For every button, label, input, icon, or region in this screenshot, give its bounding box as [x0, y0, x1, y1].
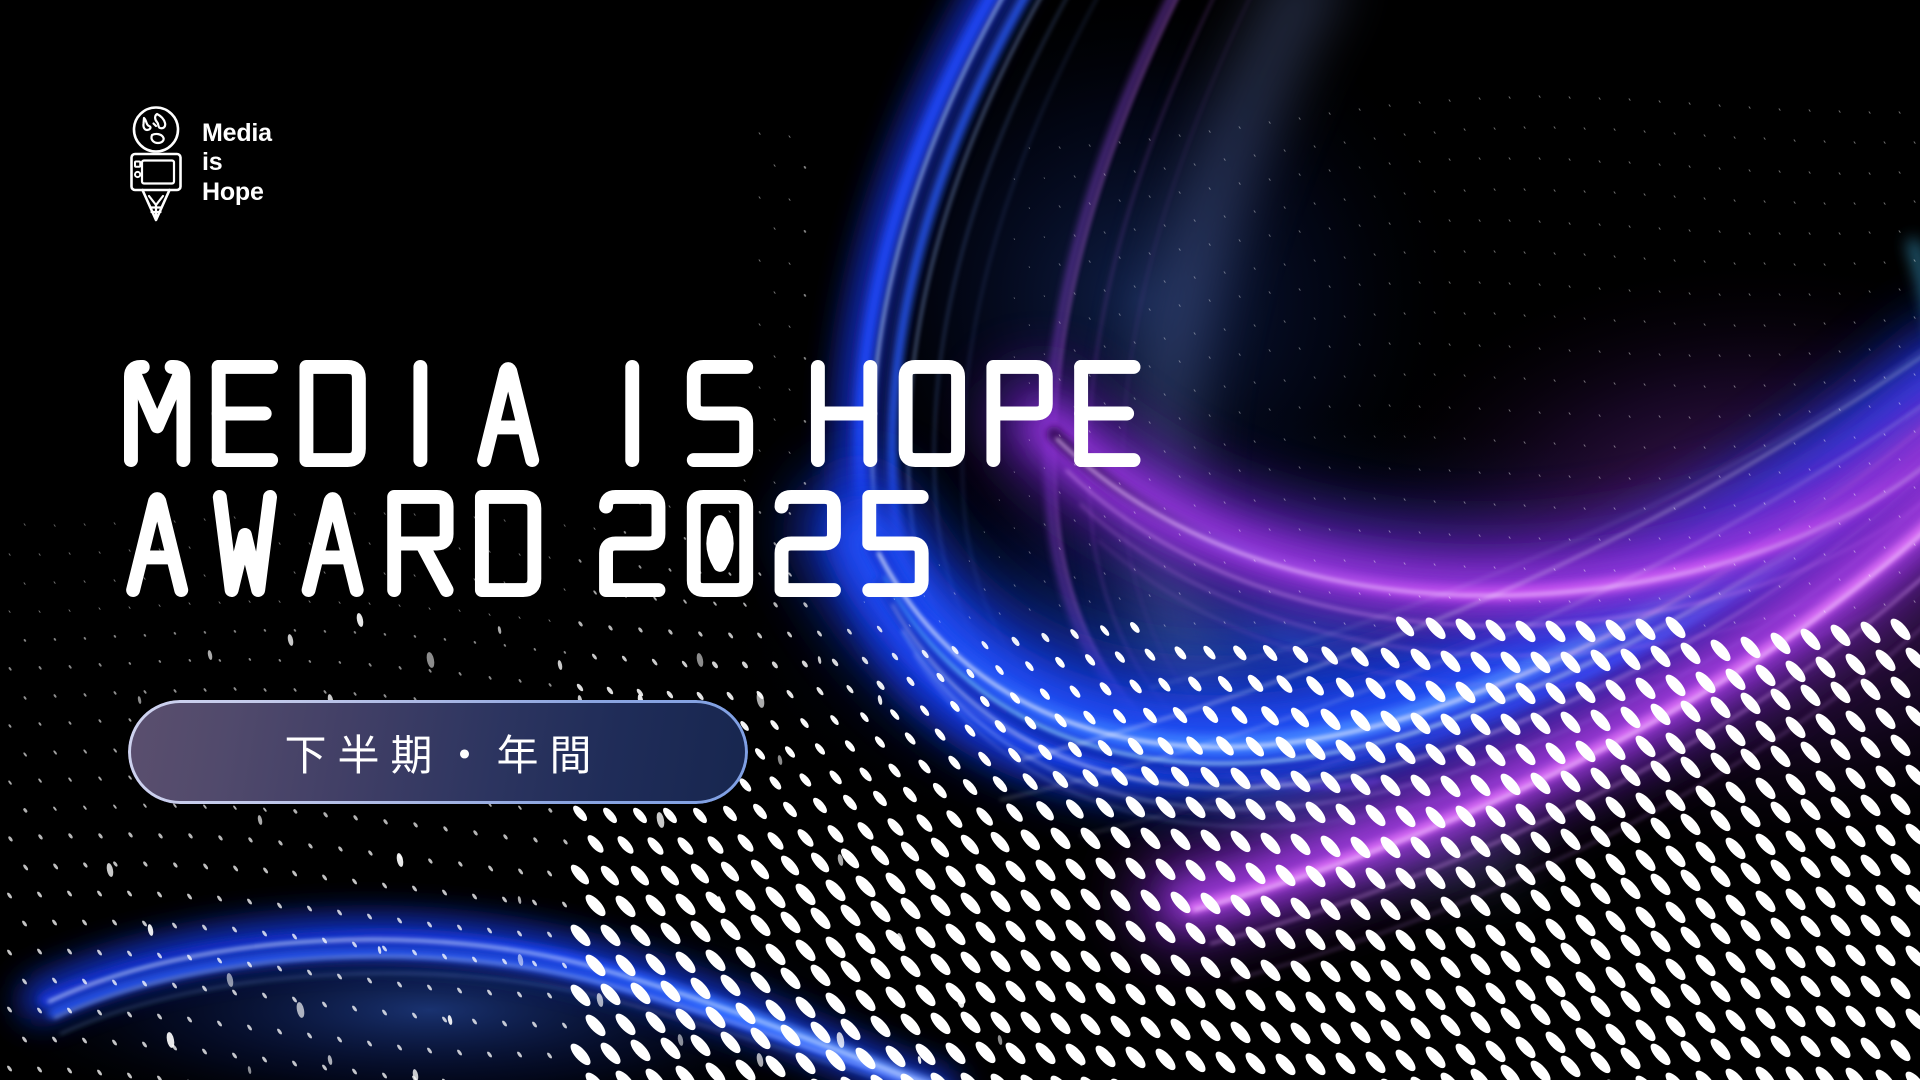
- halftone-dot: [1362, 927, 1388, 954]
- halftone-dot: [1737, 917, 1763, 944]
- halftone-dot: [1182, 857, 1208, 884]
- halftone-dot: [1374, 313, 1377, 316]
- halftone-dot: [82, 1037, 89, 1044]
- halftone-dot: [1527, 887, 1553, 914]
- halftone-dot: [1632, 675, 1658, 702]
- halftone-dot: [1782, 828, 1808, 855]
- halftone-dot: [1377, 708, 1403, 735]
- halftone-dot: [1914, 599, 1917, 602]
- halftone-dot: [1749, 473, 1752, 476]
- halftone-dot: [1914, 543, 1917, 546]
- halftone-dot: [382, 1008, 389, 1015]
- halftone-dot: [1902, 761, 1920, 788]
- halftone-dot: [502, 896, 509, 903]
- halftone-dot: [1152, 982, 1178, 1009]
- halftone-dot: [1632, 1016, 1658, 1043]
- halftone-dot: [947, 754, 964, 772]
- halftone-dot: [1584, 317, 1587, 320]
- halftone-dot: [642, 1009, 668, 1036]
- halftone-dot: [1317, 769, 1343, 796]
- halftone-dot: [837, 902, 863, 929]
- halftone-dot: [813, 742, 827, 757]
- halftone-dot: [1542, 858, 1568, 885]
- halftone-speckle: [696, 652, 705, 667]
- halftone-dot: [897, 895, 923, 922]
- halftone-dot: [1509, 536, 1512, 539]
- halftone-dot: [1122, 981, 1148, 1008]
- halftone-dot: [1209, 243, 1211, 246]
- halftone-dot: [1317, 1020, 1343, 1047]
- halftone-dot: [884, 815, 905, 837]
- halftone-dot: [398, 666, 401, 670]
- halftone-dot: [307, 843, 313, 850]
- halftone-dot: [1509, 96, 1512, 99]
- halftone-dot: [1752, 1064, 1778, 1080]
- halftone-dot: [797, 772, 813, 789]
- halftone-dot: [1797, 1033, 1823, 1060]
- halftone-dot: [1794, 263, 1797, 266]
- halftone-dot: [1902, 821, 1920, 848]
- halftone-dot: [1437, 1012, 1463, 1039]
- halftone-dot: [128, 775, 133, 780]
- halftone-dot: [1722, 949, 1748, 976]
- halftone-dot: [702, 1003, 728, 1030]
- halftone-dot: [1527, 1057, 1553, 1080]
- halftone-dot: [1842, 942, 1868, 969]
- halftone-dot: [927, 1010, 953, 1037]
- halftone-dot: [803, 166, 806, 169]
- halftone-dot: [1647, 928, 1673, 955]
- halftone-dot: [1869, 111, 1872, 114]
- halftone-dot: [1602, 851, 1628, 878]
- halftone-dot: [1329, 591, 1332, 594]
- halftone-dot: [1036, 743, 1054, 762]
- halftone-dot: [1362, 1049, 1388, 1076]
- halftone-dot: [502, 1020, 509, 1027]
- halftone-dot: [8, 780, 13, 785]
- halftone-dot: [1119, 141, 1121, 144]
- halftone-dot: [1767, 915, 1793, 942]
- halftone-dot: [1344, 559, 1347, 562]
- halftone-dot: [1659, 537, 1662, 540]
- media-is-hope-logo-icon: [124, 104, 188, 222]
- halftone-dot: [1419, 468, 1422, 471]
- halftone-dot: [1212, 795, 1238, 822]
- halftone-dot: [307, 1032, 314, 1039]
- halftone-dot: [23, 696, 27, 700]
- halftone-dot: [1632, 733, 1658, 760]
- halftone-dot: [38, 778, 43, 783]
- halftone-dot: [1107, 949, 1133, 976]
- halftone-dot: [990, 774, 1009, 795]
- halftone-dot: [1857, 619, 1883, 646]
- halftone-dot: [1689, 476, 1692, 479]
- halftone-dot: [1224, 271, 1226, 274]
- halftone-dot: [1017, 887, 1043, 914]
- halftone-dot: [1689, 536, 1692, 539]
- halftone-dot: [1422, 678, 1448, 705]
- halftone-dot: [1539, 474, 1542, 477]
- halftone-dot: [1524, 313, 1527, 316]
- halftone-dot: [1659, 100, 1662, 103]
- halftone-dot: [1734, 620, 1737, 623]
- halftone-dot: [142, 980, 149, 987]
- halftone-dot: [1186, 674, 1204, 693]
- halftone-dot: [1359, 108, 1362, 111]
- halftone-dot: [1782, 658, 1808, 685]
- halftone-dot: [382, 945, 389, 952]
- halftone-dot: [1347, 1019, 1373, 1046]
- halftone-dot: [142, 861, 148, 868]
- halftone-dot: [1089, 317, 1091, 320]
- halftone-dot: [1644, 130, 1647, 133]
- halftone-dot: [1764, 384, 1767, 387]
- halftone-dot: [1419, 101, 1422, 104]
- halftone-dot: [1704, 565, 1707, 568]
- halftone-dot: [1734, 445, 1737, 448]
- halftone-dot: [1182, 794, 1208, 821]
- halftone-dot: [1452, 803, 1478, 830]
- halftone-dot: [732, 1057, 758, 1080]
- halftone-dot: [143, 690, 147, 694]
- halftone-dot: [1557, 1053, 1583, 1080]
- halftone-dot: [935, 672, 946, 684]
- halftone-dot: [741, 661, 749, 670]
- halftone-dot: [67, 890, 74, 897]
- halftone-dot: [1419, 160, 1422, 163]
- halftone-dot: [1302, 863, 1328, 890]
- halftone-dot: [1047, 1010, 1073, 1037]
- halftone-dot: [1794, 139, 1797, 142]
- halftone-dot: [1359, 592, 1362, 595]
- halftone-dot: [1647, 871, 1673, 898]
- halftone-dot: [1047, 825, 1073, 852]
- halftone-dot: [1617, 1045, 1643, 1072]
- halftone-dot: [1599, 599, 1602, 602]
- halftone-dot: [1347, 707, 1373, 734]
- halftone-dot: [1317, 895, 1343, 922]
- halftone-dot: [1479, 471, 1482, 474]
- brand-logo[interactable]: Media is Hope: [124, 104, 272, 222]
- halftone-dot: [1827, 736, 1853, 763]
- halftone-dot: [412, 885, 419, 892]
- halftone-dot: [322, 1000, 329, 1007]
- halftone-dot: [789, 325, 792, 328]
- halftone-dot: [1389, 593, 1392, 596]
- halftone-dot: [1614, 569, 1617, 572]
- halftone-dot: [658, 862, 682, 888]
- halftone-dot: [1182, 920, 1208, 947]
- halftone-dot: [1389, 162, 1392, 165]
- halftone-dot: [1572, 912, 1598, 939]
- halftone-dot: [23, 752, 27, 757]
- halftone-dot: [487, 865, 493, 872]
- halftone-dot: [1269, 349, 1272, 352]
- halftone-dot: [248, 658, 251, 662]
- halftone-dot: [457, 861, 463, 868]
- halftone-dot: [1449, 219, 1452, 222]
- halftone-dot: [1347, 770, 1373, 797]
- halftone-dot: [1257, 956, 1283, 983]
- halftone-dot: [774, 227, 777, 230]
- halftone-dot: [1002, 1039, 1028, 1066]
- halftone-dot: [562, 961, 569, 968]
- halftone-dot: [1887, 1037, 1913, 1064]
- halftone-dot: [914, 812, 935, 835]
- halftone-dot: [1704, 260, 1707, 263]
- period-badge[interactable]: 下半期・年間: [128, 700, 748, 804]
- halftone-dot: [1329, 405, 1332, 408]
- halftone-dot: [1202, 644, 1219, 662]
- halftone-dot: [1029, 324, 1031, 327]
- halftone-dot: [867, 1072, 893, 1080]
- halftone-dot: [97, 890, 104, 897]
- halftone-dot: [734, 832, 755, 854]
- halftone-dot: [1032, 1040, 1058, 1067]
- halftone-dot: [704, 833, 725, 855]
- halftone-dot: [1779, 108, 1782, 111]
- halftone-dot: [172, 862, 178, 869]
- halftone-dot: [1737, 746, 1763, 773]
- halftone-dot: [1314, 376, 1317, 379]
- halftone-dot: [1449, 158, 1452, 161]
- halftone-dot: [337, 909, 344, 916]
- halftone-dot: [1272, 861, 1298, 888]
- halftone-dot: [1314, 436, 1317, 439]
- halftone-dot: [1272, 925, 1298, 952]
- halftone-dot: [1422, 615, 1448, 642]
- halftone-dot: [1392, 740, 1418, 767]
- halftone-dot: [1737, 690, 1763, 717]
- halftone-dot: [1584, 190, 1587, 193]
- halftone-dot: [774, 291, 777, 294]
- halftone-dot: [1104, 173, 1106, 176]
- halftone-dot: [1422, 926, 1448, 953]
- halftone-dot: [1872, 942, 1898, 969]
- halftone-dot: [567, 982, 593, 1009]
- halftone-dot: [1674, 195, 1677, 198]
- halftone-dot: [517, 867, 523, 874]
- halftone-dot: [567, 922, 593, 949]
- halftone-dot: [897, 1011, 923, 1038]
- halftone-dot: [323, 689, 327, 693]
- halftone-speckle: [425, 651, 435, 668]
- halftone-dot: [1587, 647, 1613, 674]
- halftone-dot: [824, 823, 845, 845]
- halftone-dot: [897, 1071, 923, 1080]
- halftone-dot: [1287, 894, 1313, 921]
- halftone-dot: [1569, 538, 1572, 541]
- halftone-dot: [1404, 312, 1407, 315]
- halftone-dot: [232, 988, 239, 995]
- halftone-dot: [1242, 860, 1268, 887]
- halftone-dot: [1332, 927, 1358, 954]
- halftone-dot: [82, 977, 89, 984]
- halftone-dot: [1074, 292, 1076, 295]
- halftone-dot: [978, 695, 991, 709]
- halftone-dot: [1287, 831, 1313, 858]
- halftone-dot: [1077, 948, 1103, 975]
- halftone-dot: [1170, 704, 1189, 724]
- halftone-dot: [1899, 171, 1902, 174]
- halftone-dot: [1374, 373, 1377, 376]
- halftone-dot: [1674, 131, 1677, 134]
- halftone-dot: [1182, 1048, 1208, 1075]
- halftone-dot: [1692, 726, 1718, 753]
- halftone-dot: [1722, 722, 1748, 749]
- halftone-dot: [1644, 320, 1647, 323]
- halftone-dot: [1587, 936, 1613, 963]
- halftone-dot: [1884, 490, 1887, 493]
- halftone-dot: [582, 1070, 608, 1080]
- halftone-dot: [277, 1028, 284, 1035]
- halftone-dot: [1554, 189, 1557, 192]
- halftone-dot: [1407, 1015, 1433, 1042]
- halftone-dot: [1437, 834, 1463, 861]
- halftone-dot: [759, 132, 762, 135]
- wordmark-line-2: is: [202, 148, 272, 178]
- halftone-dot: [1449, 280, 1452, 283]
- halftone-dot: [1389, 104, 1392, 107]
- halftone-dot: [1737, 860, 1763, 887]
- halftone-dot: [1059, 321, 1061, 324]
- halftone-dot: [1827, 852, 1853, 879]
- halftone-dot: [83, 693, 87, 697]
- halftone-dot: [1239, 295, 1241, 298]
- halftone-dot: [1869, 348, 1872, 351]
- halftone-dot: [963, 723, 978, 739]
- halftone-dot: [427, 984, 434, 991]
- halftone-dot: [277, 964, 284, 971]
- halftone-dot: [777, 1022, 803, 1049]
- halftone-dot: [1512, 801, 1538, 828]
- halftone-dot: [487, 1050, 494, 1057]
- halftone-dot: [702, 1060, 728, 1080]
- halftone-dot: [1599, 287, 1602, 290]
- halftone-dot: [442, 826, 448, 832]
- halftone-dot: [1872, 882, 1898, 909]
- halftone-dot: [1419, 405, 1422, 408]
- halftone-dot: [262, 929, 269, 936]
- halftone-dot: [1242, 987, 1268, 1014]
- halftone-dot: [582, 892, 608, 919]
- halftone-dot: [1629, 352, 1632, 355]
- halftone-dot: [1629, 98, 1632, 101]
- halftone-dot: [1509, 282, 1512, 285]
- halftone-dot: [1044, 177, 1046, 180]
- halftone-dot: [1527, 710, 1553, 737]
- halftone-dot: [113, 747, 117, 752]
- halftone-dot: [803, 230, 806, 233]
- halftone-dot: [857, 765, 873, 782]
- halftone-dot: [882, 927, 908, 954]
- halftone-dot: [1437, 954, 1463, 981]
- halftone-dot: [1512, 861, 1538, 888]
- halftone-dot: [1137, 1014, 1163, 1041]
- halftone-dot: [1004, 801, 1026, 825]
- halftone-dot: [1662, 786, 1688, 813]
- halftone-dot: [1389, 530, 1392, 533]
- halftone-dot: [1464, 374, 1467, 377]
- halftone-dot: [1719, 475, 1722, 478]
- halftone-dot: [1482, 863, 1508, 890]
- halftone-dot: [1329, 528, 1332, 531]
- halftone-dot: [1509, 409, 1512, 412]
- halftone-dot: [53, 638, 56, 642]
- halftone-dot: [789, 262, 792, 265]
- halftone-dot: [1644, 568, 1647, 571]
- halftone-dot: [803, 293, 806, 296]
- halftone-dot: [1299, 230, 1302, 233]
- halftone-dot: [1167, 952, 1193, 979]
- halftone-dot: [657, 920, 683, 947]
- halftone-dot: [1794, 613, 1797, 616]
- halftone-dot: [22, 920, 29, 927]
- halftone-dot: [1527, 1001, 1553, 1028]
- halftone-dot: [532, 836, 538, 842]
- halftone-dot: [1662, 899, 1688, 926]
- halftone-dot: [262, 806, 267, 812]
- halftone-dot: [9, 610, 12, 613]
- halftone-dot: [1284, 206, 1287, 209]
- halftone-dot: [37, 948, 44, 955]
- halftone-dot: [1662, 672, 1688, 699]
- halftone-dot: [1149, 308, 1151, 311]
- halftone-dot: [457, 924, 464, 931]
- halftone-dot: [1393, 614, 1417, 639]
- halftone-dot: [1404, 498, 1407, 501]
- halftone-dot: [1614, 318, 1617, 321]
- halftone-dot: [612, 952, 638, 979]
- halftone-dot: [688, 861, 712, 887]
- halftone-dot: [1452, 924, 1478, 951]
- halftone-dot: [247, 1024, 254, 1031]
- halftone-dot: [1692, 1009, 1718, 1036]
- halftone-dot: [1314, 497, 1317, 500]
- halftone-dot: [1887, 851, 1913, 878]
- halftone-dot: [1437, 1070, 1463, 1080]
- halftone-dot: [702, 947, 728, 974]
- halftone-dot: [1419, 342, 1422, 345]
- halftone-dot: [1497, 831, 1523, 858]
- halftone-dot: [1449, 596, 1452, 599]
- halftone-dot: [1164, 224, 1166, 227]
- halftone-dot: [1197, 890, 1223, 917]
- halftone-dot: [247, 837, 253, 843]
- halftone-dot: [187, 954, 194, 961]
- halftone-dot: [1392, 865, 1418, 892]
- halftone-dot: [1497, 1062, 1523, 1080]
- halftone-dot: [627, 980, 653, 1007]
- halftone-dot: [1152, 1046, 1178, 1073]
- halftone-dot: [1374, 435, 1377, 438]
- halftone-dot: [1629, 415, 1632, 418]
- halftone-dot: [1467, 1066, 1493, 1080]
- halftone-dot: [1259, 704, 1282, 728]
- halftone-dot: [1344, 256, 1347, 259]
- halftone-dot: [1584, 507, 1587, 510]
- halftone-dot: [1632, 960, 1658, 987]
- halftone-dot: [1029, 266, 1031, 269]
- halftone-dot: [1197, 1017, 1223, 1044]
- halftone-dot: [1629, 225, 1632, 228]
- halftone-dot: [1332, 989, 1358, 1016]
- halftone-dot: [517, 1051, 524, 1058]
- halftone-dot: [52, 806, 57, 812]
- halftone-dot: [1899, 571, 1902, 574]
- halftone-dot: [1764, 200, 1767, 203]
- halftone-dot: [1452, 742, 1478, 769]
